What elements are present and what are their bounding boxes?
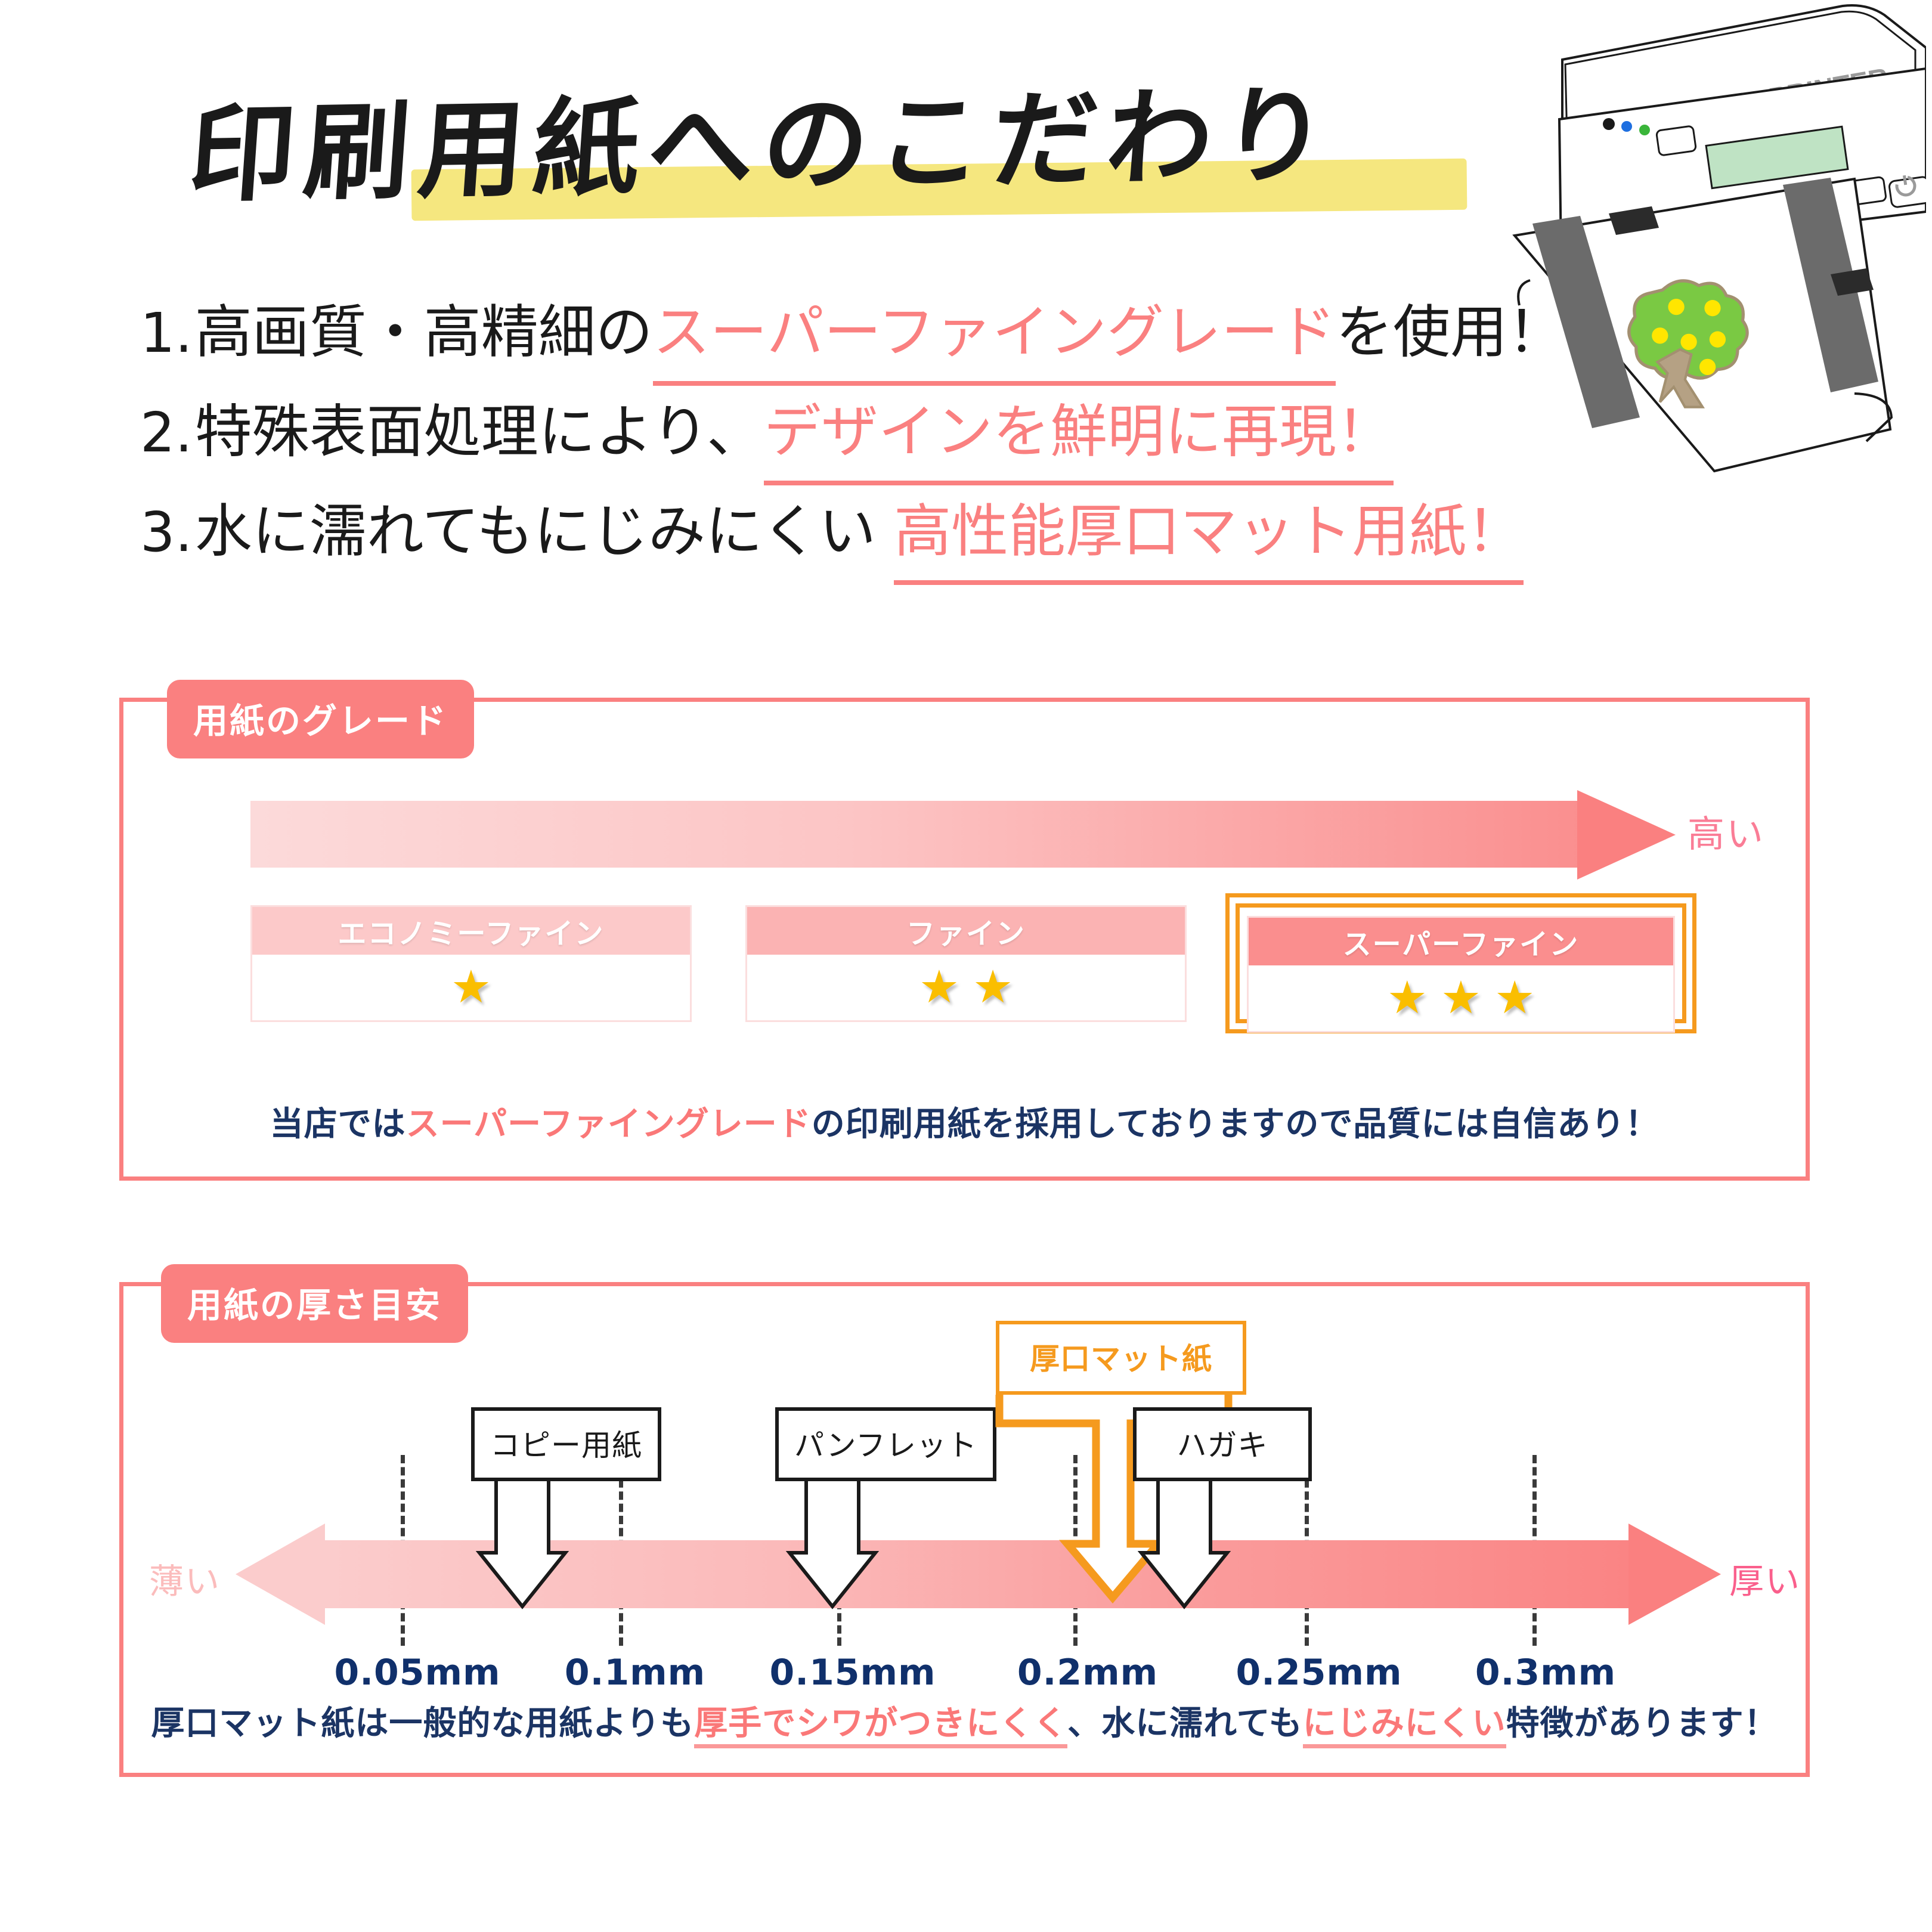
printer-button-1: [1656, 126, 1696, 156]
point-1-post: を使用！: [1336, 286, 1565, 379]
power-button: [1888, 177, 1926, 208]
callout-copy-paper-label: コピー用紙: [471, 1407, 661, 1481]
feature-points-list: 1. 高画質・高精細の スーパーファイングレード を使用！ 2. 特殊表面処理に…: [140, 286, 1559, 585]
page-title: 印刷用紙へのこだわり: [0, 47, 1533, 227]
point-1-pre: 高画質・高精細の: [195, 286, 653, 379]
tick-label-0.05mm: 0.05mm: [334, 1652, 500, 1693]
star-icon: ★: [1494, 976, 1535, 1021]
title-area: 印刷用紙へのこだわり: [0, 36, 1527, 233]
grade-card-fine-title: ファイン: [747, 907, 1185, 955]
star-icon: ★: [973, 965, 1013, 1010]
grade-gradient-arrow: [250, 790, 1676, 880]
grade-card-superfine[interactable]: スーパーファイン ★ ★ ★: [1247, 916, 1675, 1033]
tick-label-0.3mm: 0.3mm: [1475, 1652, 1616, 1693]
callout-pamphlet-arrow: [775, 1481, 996, 1618]
thickness-caption-highlight-2: にじみにくい: [1303, 1704, 1506, 1748]
grade-caption-post: の印刷用紙を採用しておりますので品質には自信あり！: [812, 1105, 1659, 1144]
point-2-highlight: デザインを鮮明に再現！: [764, 386, 1394, 485]
point-3-highlight: 高性能厚口マット用紙！: [894, 485, 1524, 585]
grade-card-fine[interactable]: ファイン ★ ★: [745, 905, 1187, 1022]
thickness-caption-pre: 厚口マット紙は一般的な用紙よりも: [151, 1704, 694, 1743]
thickness-caption-mid: 、水に濡れても: [1067, 1704, 1303, 1743]
grade-caption-highlight: スーパーファイングレード: [406, 1105, 812, 1144]
grade-arrow-high-label: 高い: [1688, 804, 1765, 857]
tick-label-0.15mm: 0.15mm: [769, 1652, 936, 1693]
point-2-pre: 特殊表面処理により、: [195, 386, 764, 478]
point-2-number: 2.: [140, 386, 193, 479]
callout-postcard-label: ハガキ: [1133, 1407, 1312, 1481]
callout-pamphlet[interactable]: パンフレット: [775, 1407, 996, 1618]
grade-card-superfine-title: スーパーファイン: [1249, 918, 1673, 965]
grade-card-economy-title: エコノミーファイン: [252, 907, 690, 955]
tick-label-0.1mm: 0.1mm: [565, 1652, 705, 1693]
star-icon: ★: [1441, 976, 1481, 1021]
callout-postcard-arrow: [1133, 1481, 1312, 1618]
paper-thickness-badge: 用紙の厚さ目安: [161, 1264, 468, 1343]
thickness-caption-post: 特徴があります！: [1506, 1704, 1778, 1743]
grade-card-economy-stars: ★: [252, 955, 690, 1020]
callout-thick-matte-paper-label: 厚口マット紙: [996, 1321, 1246, 1395]
point-1-highlight: スーパーファイングレード: [653, 286, 1336, 386]
grade-card-economy[interactable]: エコノミーファイン ★: [250, 905, 692, 1022]
star-icon: ★: [451, 965, 491, 1010]
paper-grade-badge: 用紙のグレード: [167, 680, 474, 758]
tick-label-0.2mm: 0.2mm: [1017, 1652, 1158, 1693]
feature-point-1: 1. 高画質・高精細の スーパーファイングレード を使用！: [140, 286, 1559, 386]
callout-copy-paper[interactable]: コピー用紙: [471, 1407, 661, 1618]
led-indicator-3: [1639, 125, 1650, 135]
feature-point-2: 2. 特殊表面処理により、 デザインを鮮明に再現！: [140, 386, 1559, 485]
star-icon: ★: [1387, 976, 1428, 1021]
thickness-caption-highlight-1: 厚手でシワがつきにくく: [694, 1704, 1067, 1748]
feature-point-3: 3. 水に濡れてもにじみにくい 高性能厚口マット用紙！: [140, 485, 1559, 585]
thickness-label-thin: 薄い: [149, 1553, 221, 1603]
grade-card-superfine-highlight-frame[interactable]: スーパーファイン ★ ★ ★: [1225, 893, 1696, 1033]
callout-pamphlet-label: パンフレット: [775, 1407, 996, 1481]
grade-caption: 当店ではスーパーファイングレードの印刷用紙を採用しておりますので品質には自信あり…: [119, 1097, 1810, 1145]
grade-card-fine-stars: ★ ★: [747, 955, 1185, 1020]
tick-label-0.25mm: 0.25mm: [1236, 1652, 1402, 1693]
led-indicator-2: [1621, 121, 1632, 132]
grade-caption-pre: 当店では: [270, 1105, 406, 1144]
callout-copy-paper-arrow: [471, 1481, 661, 1618]
point-3-number: 3.: [140, 486, 193, 578]
point-1-number: 1.: [140, 287, 193, 379]
thickness-label-thick: 厚い: [1729, 1553, 1801, 1603]
thickness-caption: 厚口マット紙は一般的な用紙よりも厚手でシワがつきにくく、水に濡れてもにじみにくい…: [119, 1696, 1810, 1745]
grade-card-superfine-stars: ★ ★ ★: [1249, 965, 1673, 1031]
star-icon: ★: [919, 965, 959, 1010]
point-3-pre: 水に濡れてもにじみにくい: [195, 485, 876, 578]
callout-postcard[interactable]: ハガキ: [1133, 1407, 1312, 1618]
led-indicator-1: [1603, 118, 1615, 130]
